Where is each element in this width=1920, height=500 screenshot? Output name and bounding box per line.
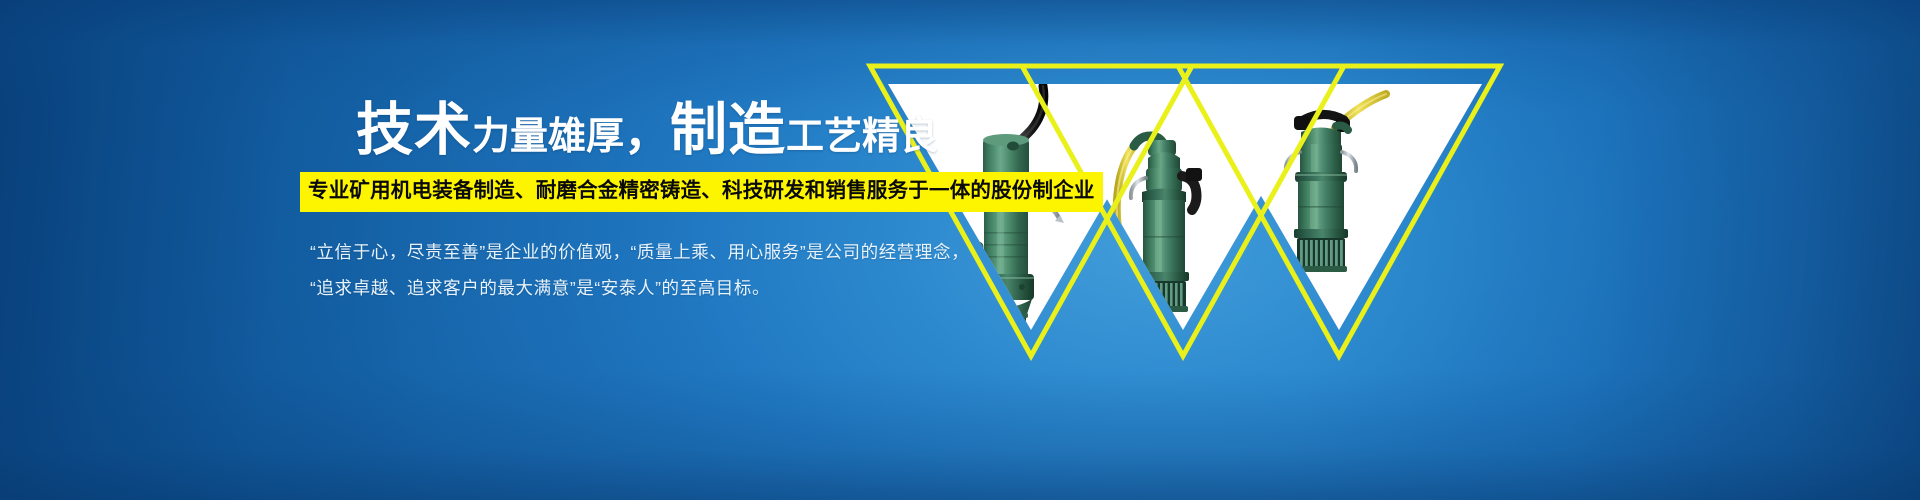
headline-segment-5: 工艺精良 (786, 118, 938, 156)
headline-segment-4: 制造 (670, 103, 786, 158)
headline-segment-1: 技术 (356, 103, 472, 158)
description-line-2: “追求卓越、追求客户的最大满意”是“安泰人”的至高目标。 (310, 270, 920, 306)
headline-segment-2: 力量雄厚 (472, 118, 624, 156)
banner-copy: 技术 力量雄厚 ， 制造 工艺精良 专业矿用机电装备制造、耐磨合金精密铸造、科技… (300, 96, 920, 306)
highlight-bar: 专业矿用机电装备制造、耐磨合金精密铸造、科技研发和销售服务于一体的股份制企业 (300, 172, 1103, 212)
headline: 技术 力量雄厚 ， 制造 工艺精良 (300, 96, 920, 158)
promo-banner: 技术 力量雄厚 ， 制造 工艺精良 专业矿用机电装备制造、耐磨合金精密铸造、科技… (0, 0, 1920, 500)
description-paragraph: “立信于心，尽责至善”是企业的价值观，“质量上乘、用心服务”是公司的经营理念， … (300, 234, 920, 306)
description-line-1: “立信于心，尽责至善”是企业的价值观，“质量上乘、用心服务”是公司的经营理念， (310, 234, 920, 270)
headline-segment-3: ， (624, 110, 670, 156)
